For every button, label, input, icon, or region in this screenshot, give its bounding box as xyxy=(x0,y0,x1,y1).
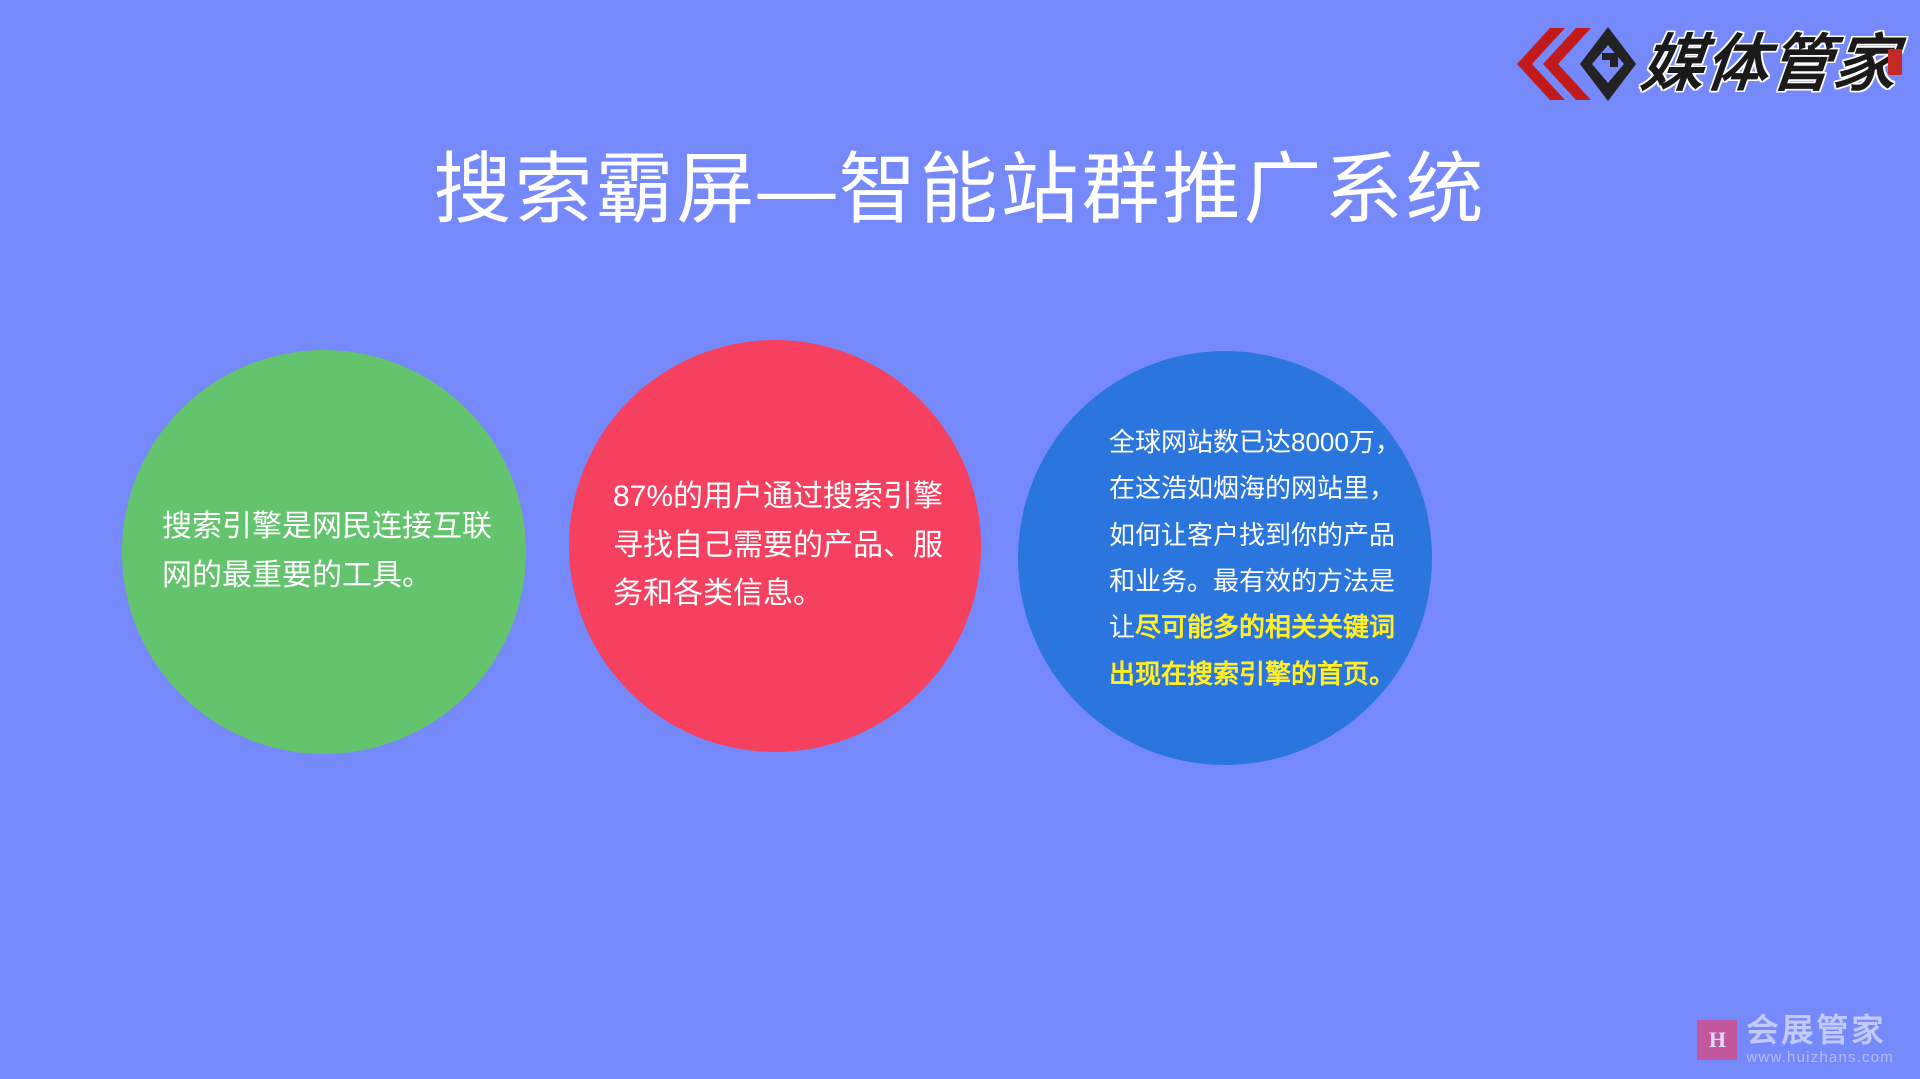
blue-circle: 全球网站数已达8000万，在这浩如烟海的网站里，如何让客户找到你的产品和业务。最… xyxy=(1018,351,1432,765)
watermark-title: 会展管家 xyxy=(1746,1014,1894,1046)
blue-circle-text-highlight: 尽可能多的相关关键词出现在搜索引擎的首页。 xyxy=(1109,612,1395,688)
presentation-slide: 媒体管家 搜索霸屏—智能站群推广系统 搜索引擎是网民连接互联网的最重要的工具。 … xyxy=(0,0,1920,1079)
blue-circle-text-plain: 全球网站数已达8000万，在这浩如烟海的网站里，如何让客户找到你的产品和业务。最… xyxy=(1109,427,1401,642)
brand-seal-icon xyxy=(1888,49,1902,75)
page-title: 搜索霸屏—智能站群推广系统 xyxy=(0,146,1920,233)
chevron-diamond-icon xyxy=(1510,23,1636,105)
huizhans-watermark: H 会展管家 www.huizhans.com xyxy=(1697,1014,1894,1065)
green-circle: 搜索引擎是网民连接互联网的最重要的工具。 xyxy=(122,350,526,754)
brand-logo: 媒体管家 xyxy=(1510,18,1898,110)
huizhans-mark-icon: H xyxy=(1697,1020,1737,1060)
green-circle-text: 搜索引擎是网民连接互联网的最重要的工具。 xyxy=(146,503,502,600)
media-butler-mark-icon xyxy=(1510,23,1636,105)
blue-circle-text: 全球网站数已达8000万，在这浩如烟海的网站里，如何让客户找到你的产品和业务。最… xyxy=(1041,419,1409,697)
watermark-text-group: 会展管家 www.huizhans.com xyxy=(1746,1014,1894,1065)
watermark-url: www.huizhans.com xyxy=(1746,1050,1894,1065)
pink-circle: 87%的用户通过搜索引擎寻找自己需要的产品、服务和各类信息。 xyxy=(569,340,981,752)
brand-logo-text: 媒体管家 xyxy=(1639,33,1902,95)
pink-circle-text: 87%的用户通过搜索引擎寻找自己需要的产品、服务和各类信息。 xyxy=(591,473,959,619)
